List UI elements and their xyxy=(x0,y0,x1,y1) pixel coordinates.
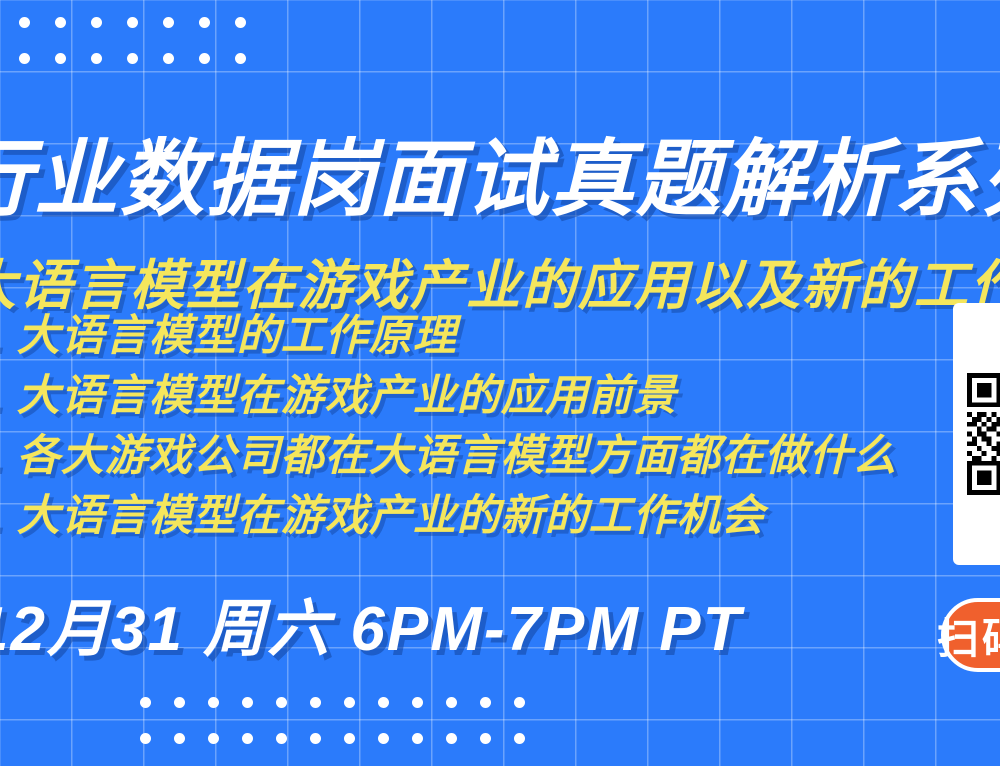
topic-list: 1. 大语言模型的工作原理 2. 大语言模型在游戏产业的应用前景 3. 各大游戏… xyxy=(0,312,897,541)
list-item: 4. 大语言模型在游戏产业的新的工作机会 xyxy=(0,492,897,540)
decorative-dot xyxy=(127,17,138,28)
promo-poster: 行业数据岗面试真题解析系列 大语言模型在游戏产业的应用以及新的工作机会 1. 大… xyxy=(0,0,1000,766)
decorative-dot xyxy=(378,697,389,708)
decorative-dot xyxy=(514,733,525,744)
page-title: 行业数据岗面试真题解析系列 xyxy=(0,134,1000,225)
decorative-dot xyxy=(55,17,66,28)
decorative-dot xyxy=(446,697,457,708)
decorative-dot xyxy=(174,697,185,708)
decorative-dot xyxy=(344,697,355,708)
decorative-dot xyxy=(412,733,423,744)
top-dot-decoration xyxy=(6,4,258,76)
decorative-dot xyxy=(480,733,491,744)
decorative-dot xyxy=(199,53,210,64)
page-subtitle: 大语言模型在游戏产业的应用以及新的工作机会 xyxy=(0,257,1000,316)
decorative-dot xyxy=(276,733,287,744)
decorative-dot xyxy=(514,697,525,708)
decorative-dot xyxy=(208,733,219,744)
decorative-dot xyxy=(91,17,102,28)
decorative-dot xyxy=(276,697,287,708)
decorative-dot xyxy=(242,697,253,708)
bottom-dot-decoration xyxy=(128,684,536,756)
decorative-dot xyxy=(235,17,246,28)
list-item: 2. 大语言模型在游戏产业的应用前景 xyxy=(0,372,897,420)
decorative-dot xyxy=(19,53,30,64)
decorative-dot xyxy=(163,17,174,28)
list-item: 1. 大语言模型的工作原理 xyxy=(0,312,897,360)
scan-signup-button-label: 扫码报名 xyxy=(937,605,1000,666)
decorative-dot xyxy=(480,697,491,708)
decorative-dot xyxy=(242,733,253,744)
event-datetime: 12月31 周六 6PM-7PM PT xyxy=(0,596,742,664)
decorative-dot xyxy=(310,733,321,744)
qr-code-card[interactable] xyxy=(953,303,1000,565)
decorative-dot xyxy=(235,53,246,64)
scan-signup-button[interactable]: 扫码报名 xyxy=(941,598,1000,672)
decorative-dot xyxy=(163,53,174,64)
decorative-dot xyxy=(344,733,355,744)
decorative-dot xyxy=(378,733,389,744)
decorative-dot xyxy=(19,17,30,28)
qr-code-icon xyxy=(967,317,1000,551)
decorative-dot xyxy=(310,697,321,708)
list-item: 3. 各大游戏公司都在大语言模型方面都在做什么 xyxy=(0,432,897,480)
decorative-dot xyxy=(412,697,423,708)
decorative-dot xyxy=(199,17,210,28)
decorative-dot xyxy=(127,53,138,64)
decorative-dot xyxy=(446,733,457,744)
decorative-dot xyxy=(140,733,151,744)
decorative-dot xyxy=(140,697,151,708)
decorative-dot xyxy=(91,53,102,64)
decorative-dot xyxy=(55,53,66,64)
decorative-dot xyxy=(208,697,219,708)
decorative-dot xyxy=(174,733,185,744)
